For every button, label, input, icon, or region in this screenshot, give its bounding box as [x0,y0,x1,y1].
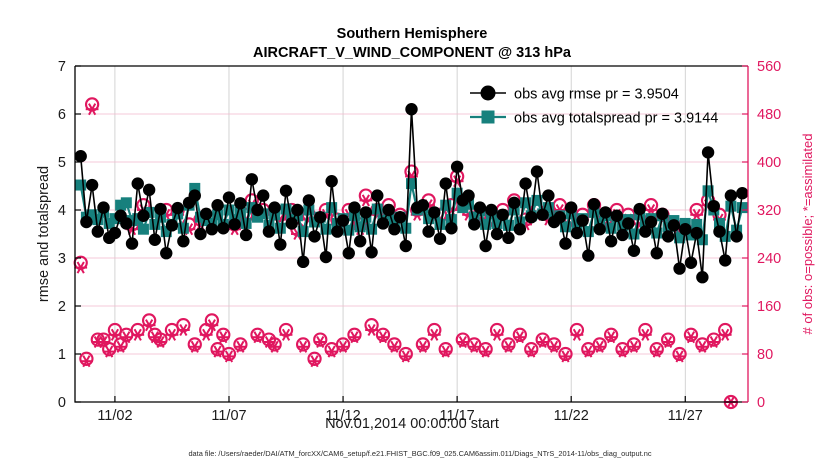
rmse-marker [616,229,628,241]
rmse-marker [582,249,594,261]
rmse-marker [594,223,606,235]
rmse-marker [645,216,657,228]
rmse-marker [257,189,269,201]
totalspread-marker [737,202,748,213]
rmse-marker [263,225,275,237]
rmse-marker [622,217,634,229]
rmse-marker [166,219,178,231]
rmse-marker [713,225,725,237]
rmse-marker [662,230,674,242]
y-tick-label-right: 160 [757,299,781,315]
rmse-marker [126,237,138,249]
rmse-marker [519,177,531,189]
rmse-marker [377,217,389,229]
totalspread-marker [75,180,86,191]
rmse-marker [508,197,520,209]
totalspread-marker [178,223,189,234]
rmse-marker [325,175,337,187]
rmse-marker [479,240,491,252]
rmse-marker [559,237,571,249]
rmse-marker [611,210,623,222]
rmse-marker [371,189,383,201]
rmse-marker [149,234,161,246]
rmse-marker [497,209,509,221]
rmse-marker [291,204,303,216]
rmse-marker [382,204,394,216]
y-axis-title-left: rmse and totalspread [36,166,52,302]
rmse-marker [434,233,446,245]
y-tick-label-left: 1 [58,347,66,363]
y-tick-label-right: 320 [757,203,781,219]
y-tick-label-right: 400 [757,155,781,171]
legend-marker-totalspread [482,111,495,124]
rmse-marker [719,254,731,266]
rmse-marker [337,214,349,226]
rmse-marker [554,211,566,223]
rmse-marker [348,201,360,213]
rmse-marker [97,201,109,213]
rmse-marker [86,179,98,191]
rmse-marker [286,217,298,229]
rmse-marker [708,200,720,212]
rmse-marker [80,216,92,228]
rmse-marker [656,208,668,220]
rmse-marker [206,223,218,235]
rmse-marker [251,204,263,216]
x-tick-label: 11/27 [668,408,703,424]
rmse-marker [491,228,503,240]
rmse-marker [360,206,372,218]
rmse-marker [428,206,440,218]
rmse-marker [194,228,206,240]
rmse-marker [651,247,663,259]
rmse-marker [576,214,588,226]
rmse-marker [502,232,514,244]
rmse-marker [440,177,452,189]
rmse-marker [132,177,144,189]
totalspread-marker [121,197,132,208]
rmse-marker [485,204,497,216]
y-tick-label-left: 6 [58,107,66,123]
rmse-marker [445,222,457,234]
y-tick-label-left: 0 [58,395,66,411]
rmse-marker [536,209,548,221]
rmse-marker [514,223,526,235]
legend-label: obs avg totalspread pr = 3.9144 [514,110,718,126]
rmse-marker [143,184,155,196]
rmse-marker [736,187,748,199]
rmse-marker [160,247,172,259]
rmse-marker [109,227,121,239]
rmse-marker [274,238,286,250]
y-tick-label-right: 240 [757,251,781,267]
rmse-marker [565,201,577,213]
figure-title-line1: Southern Hemisphere [337,26,488,42]
rmse-marker [422,225,434,237]
rmse-marker [628,245,640,257]
rmse-marker [542,189,554,201]
observation-diagnostics-figure: Southern Hemisphere AIRCRAFT_V_WIND_COMP… [0,0,830,470]
legend-label: obs avg rmse pr = 3.9504 [514,86,679,102]
rmse-marker [571,227,583,239]
rmse-marker [314,211,326,223]
rmse-marker [725,189,737,201]
rmse-marker [668,219,680,231]
x-tick-label: 11/02 [97,408,132,424]
legend-marker-rmse [481,86,496,101]
rmse-marker [462,189,474,201]
rmse-marker [343,247,355,259]
y-tick-label-right: 80 [757,347,773,363]
rmse-marker [599,206,611,218]
figure-title-line2: AIRCRAFT_V_WIND_COMPONENT @ 313 hPa [253,45,572,61]
rmse-marker [451,161,463,173]
rmse-marker [400,240,412,252]
y-tick-label-right: 0 [757,395,765,411]
rmse-marker [217,222,229,234]
y-tick-label-right: 480 [757,107,781,123]
rmse-marker [354,235,366,247]
y-tick-label-left: 3 [58,251,66,267]
y-tick-label-right: 560 [757,59,781,75]
rmse-marker [246,173,258,185]
rmse-marker [211,199,223,211]
rmse-marker [297,256,309,268]
rmse-marker [525,211,537,223]
rmse-marker [405,103,417,115]
rmse-marker [417,199,429,211]
rmse-marker [685,257,697,269]
rmse-marker [223,191,235,203]
y-tick-label-left: 4 [58,203,66,219]
rmse-marker [673,262,685,274]
rmse-marker [137,210,149,222]
rmse-marker [696,271,708,283]
rmse-marker [280,185,292,197]
rmse-marker [679,223,691,235]
rmse-marker [331,225,343,237]
rmse-marker [154,203,166,215]
totalspread-marker [138,224,149,235]
rmse-marker [228,218,240,230]
rmse-marker [200,208,212,220]
rmse-marker [303,194,315,206]
rmse-marker [92,225,104,237]
x-axis-title: Nov.01,2014 00:00:00 start [325,416,499,432]
rmse-marker [308,230,320,242]
rmse-marker [234,197,246,209]
rmse-marker [394,211,406,223]
y-tick-label-left: 5 [58,155,66,171]
data-file-footer: data file: /Users/raeder/DAI/ATM_forcXX/… [188,449,651,458]
rmse-marker [189,189,201,201]
rmse-marker [730,230,742,242]
rmse-marker [588,198,600,210]
rmse-marker [633,203,645,215]
rmse-marker [474,201,486,213]
rmse-marker [177,235,189,247]
rmse-marker [365,246,377,258]
rmse-marker [171,202,183,214]
y-axis-title-right: # of obs: o=possible; *=assimilated [800,134,815,335]
rmse-marker [388,223,400,235]
rmse-marker [690,227,702,239]
rmse-marker [702,146,714,158]
rmse-marker [605,235,617,247]
rmse-marker [75,150,87,162]
rmse-marker [320,251,332,263]
y-tick-label-left: 7 [58,59,66,75]
rmse-marker [240,229,252,241]
rmse-marker [268,201,280,213]
x-tick-label: 11/22 [554,408,589,424]
rmse-marker [531,165,543,177]
x-tick-label: 11/07 [211,408,246,424]
rmse-marker [468,218,480,230]
y-tick-label-left: 2 [58,299,66,315]
rmse-marker [120,217,132,229]
